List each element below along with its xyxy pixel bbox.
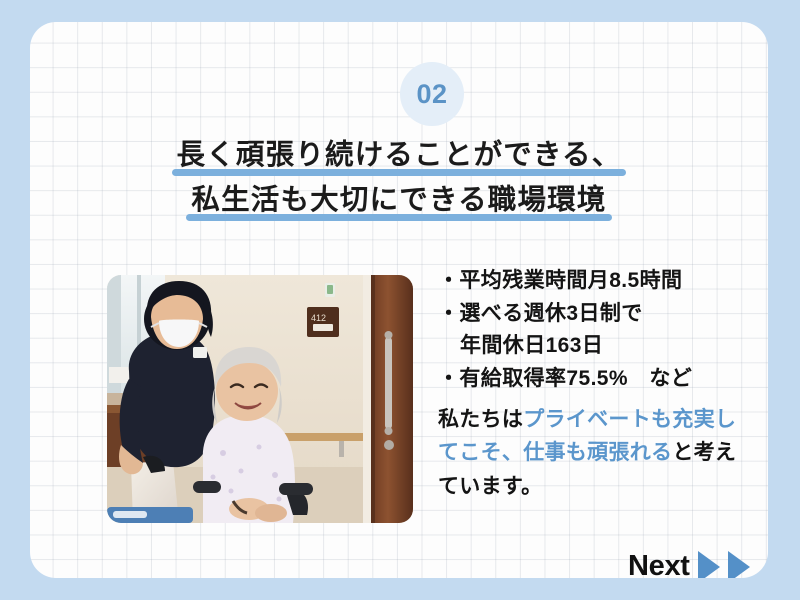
list-item: ・選べる週休3日制で xyxy=(438,298,756,331)
headline-line-1: 長く頑張り続けることができる、 xyxy=(30,140,768,176)
room-sign-number: 412 xyxy=(311,313,326,323)
lead-paragraph-part-1: 私たちは xyxy=(438,408,523,431)
bullet-marker: ・ xyxy=(438,302,459,325)
step-number-label: 02 xyxy=(416,81,447,108)
slide-root: 02 長く頑張り続けることができる、 私生活も大切にできる職場環境 xyxy=(0,0,800,600)
slide-card: 02 長く頑張り続けることができる、 私生活も大切にできる職場環境 xyxy=(30,22,768,578)
bullet-marker: ・ xyxy=(438,367,459,390)
headline-line-2: 私生活も大切にできる職場環境 xyxy=(30,185,768,221)
photo-illustration: 412 xyxy=(107,275,413,523)
bullet-marker: ・ xyxy=(438,269,459,292)
page-title: 長く頑張り続けることができる、 私生活も大切にできる職場環境 xyxy=(30,140,768,230)
next-button[interactable]: Next xyxy=(628,550,750,578)
benefits-content: ・平均残業時間月8.5時間 ・選べる週休3日制で 年間休日163日 ・有給取得率… xyxy=(438,265,756,503)
list-item: 年間休日163日 xyxy=(438,330,756,363)
lead-paragraph: 私たちはプライベートも充実してこそ、仕事も頑張れると考えています。 xyxy=(438,403,756,503)
list-item: ・有給取得率75.5% など xyxy=(438,363,756,396)
bullet-text: 有給取得率75.5% など xyxy=(459,367,692,390)
next-button-label: Next xyxy=(628,550,690,578)
list-item: ・平均残業時間月8.5時間 xyxy=(438,265,756,298)
step-number-badge: 02 xyxy=(400,62,464,126)
headline-line-1-text: 長く頑張り続けることができる、 xyxy=(174,140,625,176)
bullet-text: 平均残業時間月8.5時間 xyxy=(459,269,682,292)
care-facility-photo: 412 xyxy=(107,275,413,523)
triangle-right-icon xyxy=(698,551,720,579)
headline-line-2-text: 私生活も大切にできる職場環境 xyxy=(188,185,609,221)
bullet-text: 選べる週休3日制で xyxy=(459,302,642,325)
triangle-right-icon xyxy=(728,551,750,579)
bullet-text: 年間休日163日 xyxy=(460,334,603,357)
